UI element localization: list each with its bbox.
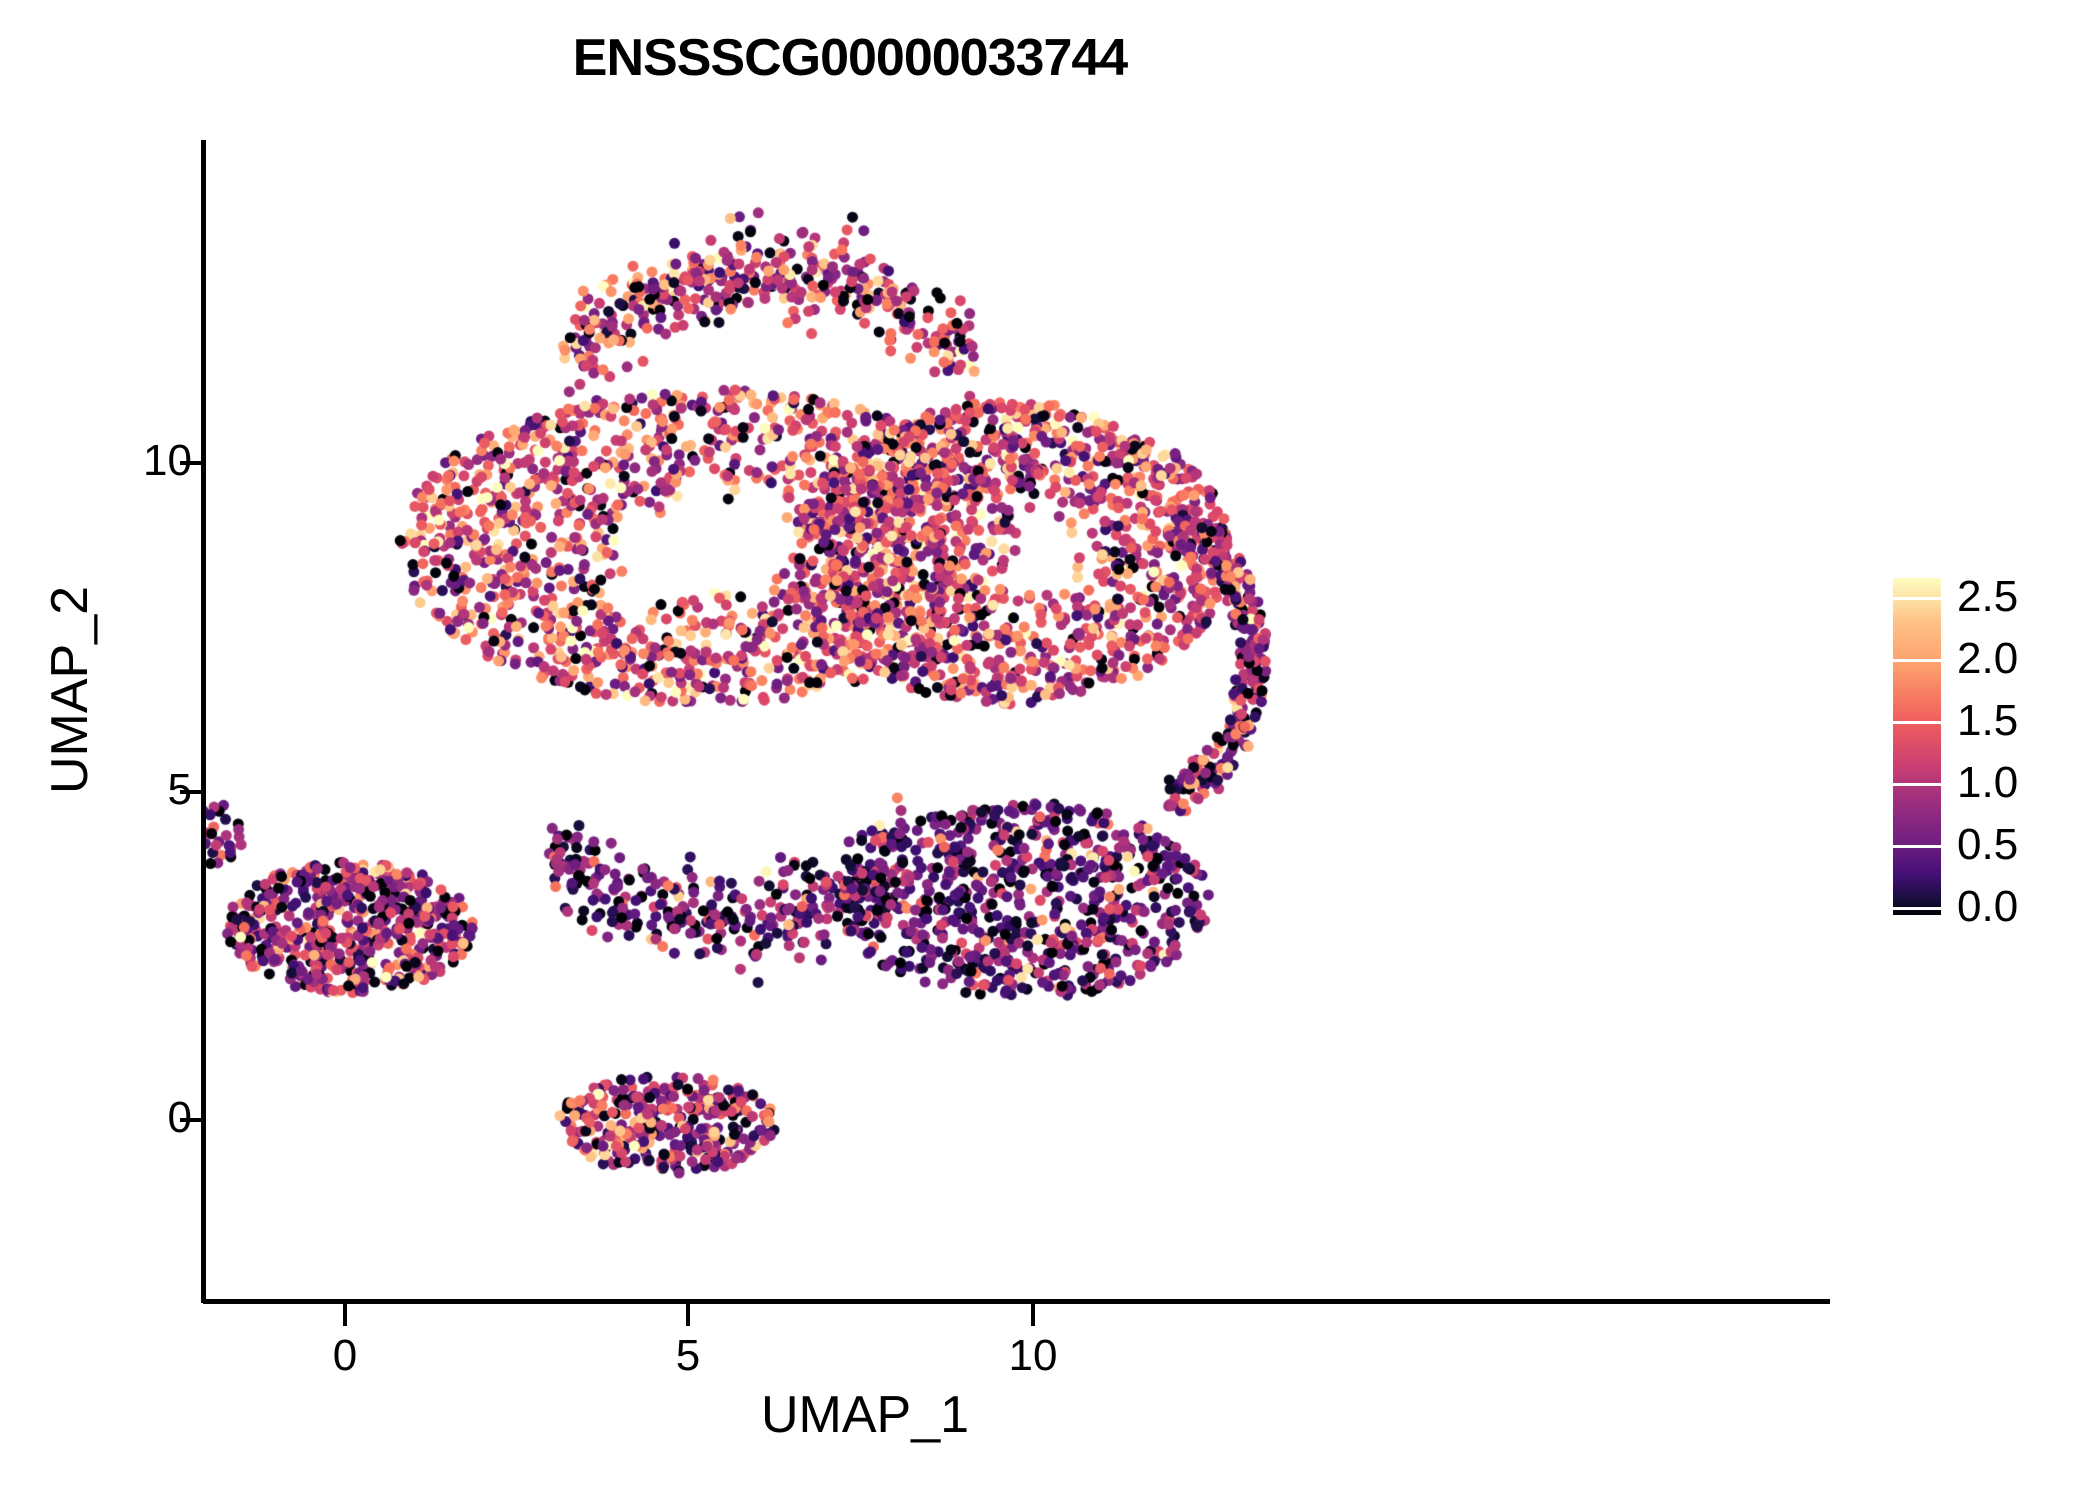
colorbar-label-0.0: 0.0 <box>1957 885 2077 929</box>
x-axis-label: UMAP_1 <box>605 1385 1125 1445</box>
page-title: ENSSSCG00000033744 <box>0 28 1700 88</box>
colorbar-tick-1.0 <box>1893 783 1941 786</box>
x-axis-ticklabel-5: 5 <box>608 1334 768 1378</box>
y-axis-label: UMAP_2 <box>40 430 100 950</box>
colorbar-legend: 2.5 2.0 1.5 1.0 0.5 0.0 <box>1893 578 2083 918</box>
colorbar-tick-2.0 <box>1893 659 1941 662</box>
colorbar-tick-2.5 <box>1893 597 1941 600</box>
colorbar-gradient <box>1893 578 1941 915</box>
colorbar-label-2.5: 2.5 <box>1957 575 2077 619</box>
colorbar-tick-0.5 <box>1893 845 1941 848</box>
y-axis-ticklabel-0: 0 <box>72 1096 192 1140</box>
plot-panel <box>205 140 1830 1303</box>
x-axis-ticklabel-0: 0 <box>265 1334 425 1378</box>
x-axis-ticklabel-10: 10 <box>953 1334 1113 1378</box>
colorbar-label-0.5: 0.5 <box>1957 823 2077 867</box>
x-axis-tick-10 <box>1031 1304 1035 1326</box>
colorbar-label-2.0: 2.0 <box>1957 637 2077 681</box>
colorbar-tick-1.5 <box>1893 721 1941 724</box>
x-axis-tick-0 <box>343 1304 347 1326</box>
y-axis-line <box>201 140 206 1303</box>
x-axis-line <box>203 1299 1830 1304</box>
chart-root: ENSSSCG00000033744 10 5 0 0 5 10 UMAP_1 … <box>0 0 2100 1500</box>
colorbar-tick-0.0 <box>1893 907 1941 910</box>
scatter-plot-canvas <box>205 140 1830 1303</box>
colorbar-label-1.5: 1.5 <box>1957 699 2077 743</box>
colorbar-label-1.0: 1.0 <box>1957 761 2077 805</box>
x-axis-tick-5 <box>686 1304 690 1326</box>
